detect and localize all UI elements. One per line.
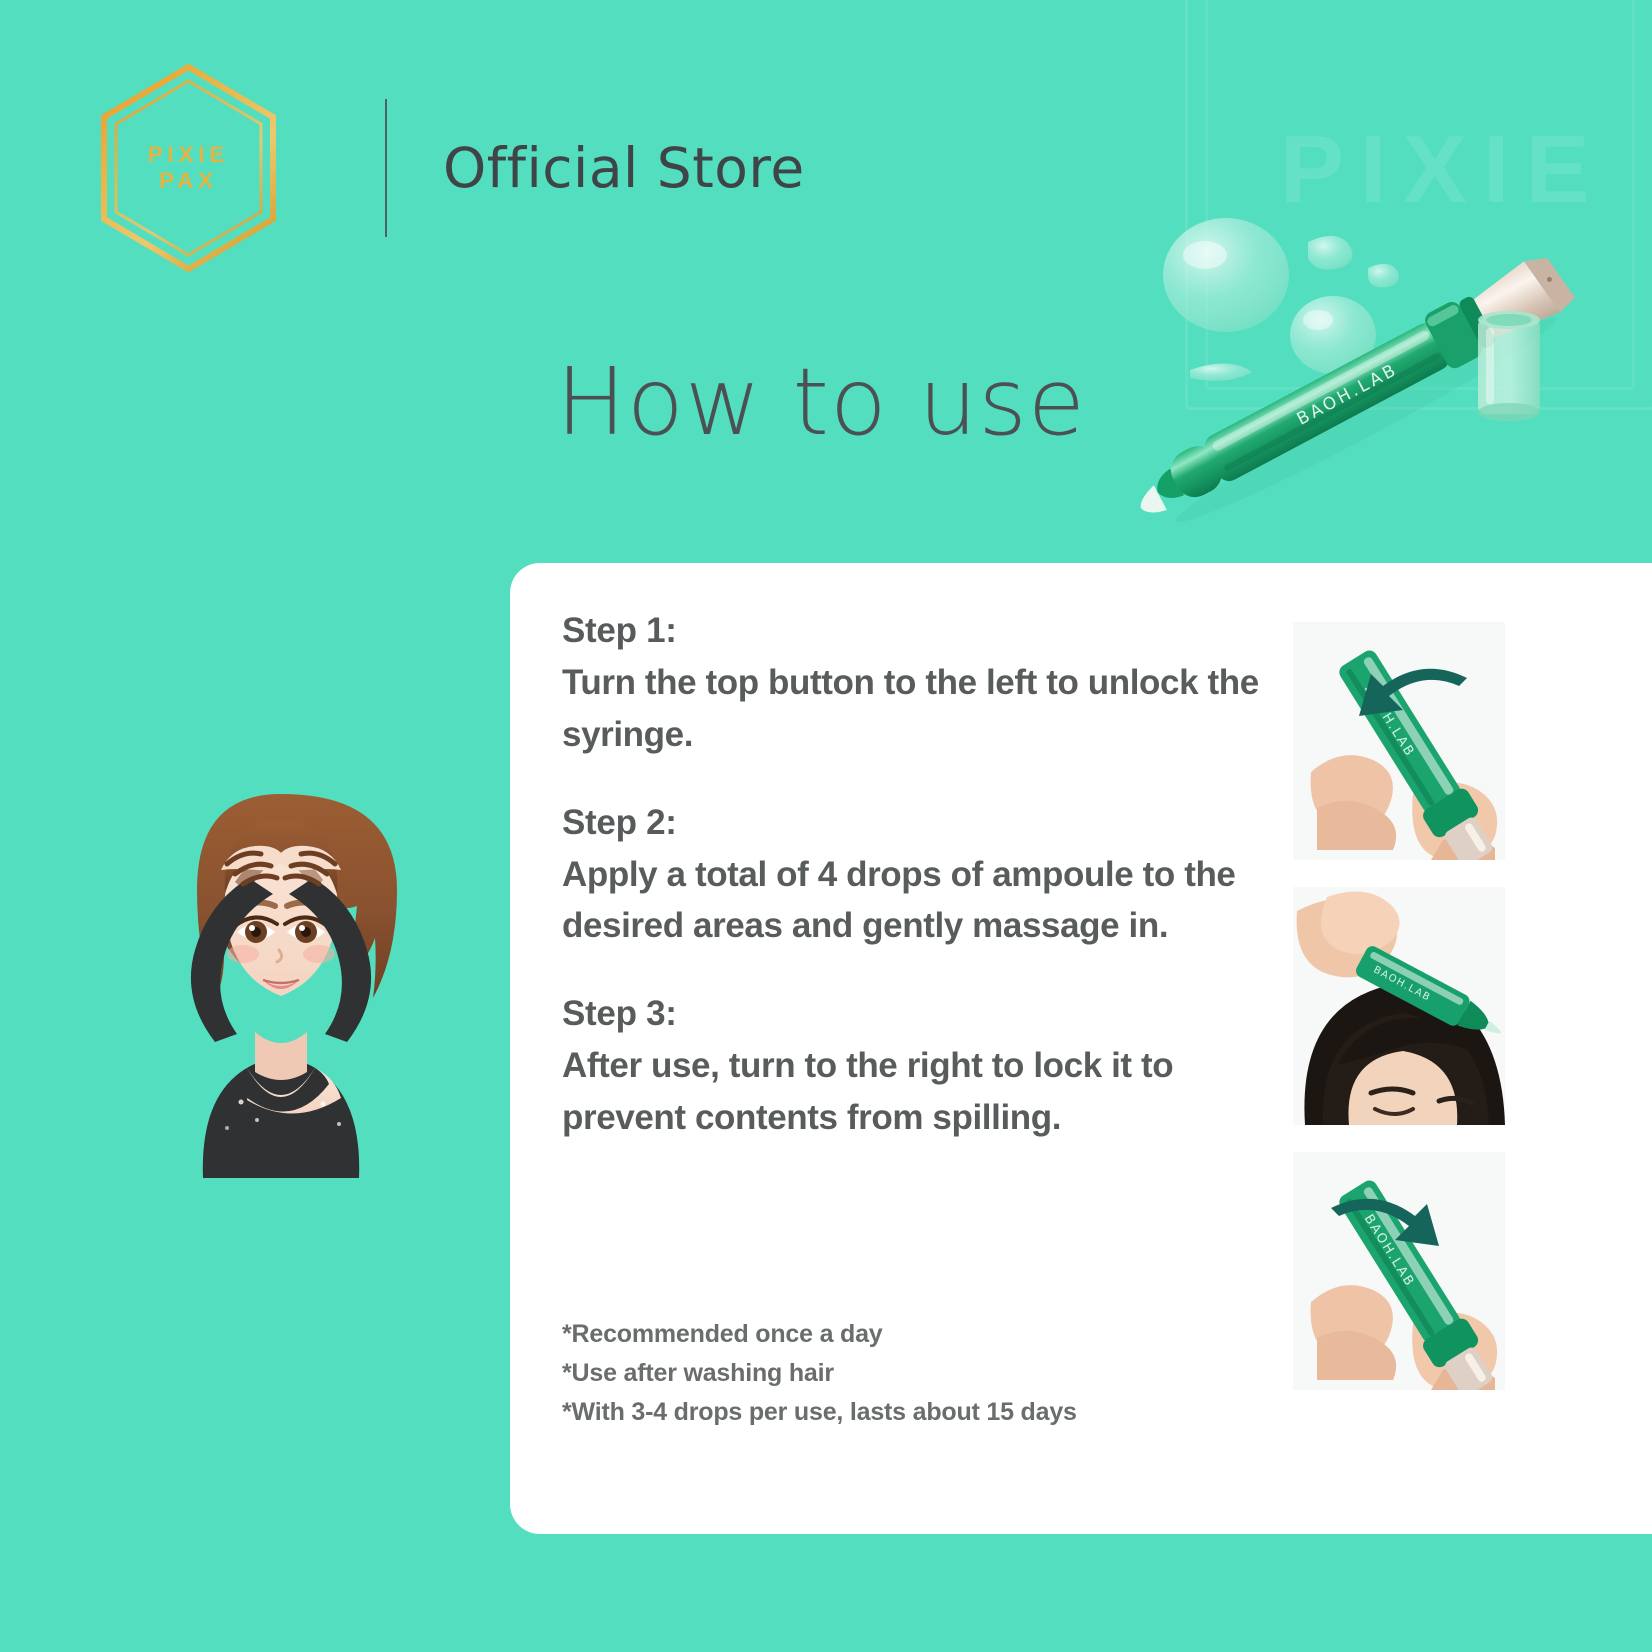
note-line: *Use after washing hair [562, 1354, 1282, 1393]
logo-wordmark: PIXIE PAX [96, 62, 281, 274]
persona-illustration [95, 742, 467, 1178]
step-item: Step 1: Turn the top button to the left … [562, 611, 1262, 761]
step-2-photo: BAOH.LAB [1293, 887, 1505, 1125]
step-text: Turn the top button to the left to unloc… [562, 657, 1262, 761]
logo-line-1: PIXIE [148, 142, 229, 168]
woman-massaging-scalp-icon [95, 742, 467, 1178]
step-label: Step 2: [562, 803, 1262, 843]
notes-list: *Recommended once a day *Use after washi… [562, 1315, 1282, 1431]
pixie-pax-logo[interactable]: PIXIE PAX [96, 62, 281, 274]
step-photos: BAOH.LAB [1293, 622, 1505, 1417]
steps-list: Step 1: Turn the top button to the left … [562, 611, 1262, 1186]
header: PIXIE PAX Official Store [96, 62, 805, 274]
note-line: *With 3-4 drops per use, lasts about 15 … [562, 1393, 1282, 1432]
logo-line-2: PAX [159, 168, 218, 194]
step-3-photo: BAOH.LAB [1293, 1152, 1505, 1390]
hand-turning-pen-left-photo-icon: BAOH.LAB [1293, 622, 1505, 860]
step-label: Step 1: [562, 611, 1262, 651]
product-applicator-pen-icon: BAOH.LAB [1050, 200, 1652, 530]
page-title: How to use [556, 348, 1086, 456]
step-item: Step 3: After use, turn to the right to … [562, 994, 1262, 1144]
official-store-label: Official Store [443, 136, 805, 200]
hero-product-image: BAOH.LAB [1050, 200, 1652, 530]
step-text: Apply a total of 4 drops of ampoule to t… [562, 849, 1262, 953]
header-divider [385, 99, 387, 237]
hand-turning-pen-right-photo-icon: BAOH.LAB [1293, 1152, 1505, 1390]
step-text: After use, turn to the right to lock it … [562, 1040, 1262, 1144]
how-to-use-card: Step 1: Turn the top button to the left … [510, 563, 1652, 1534]
step-1-photo: BAOH.LAB [1293, 622, 1505, 860]
step-label: Step 3: [562, 994, 1262, 1034]
note-line: *Recommended once a day [562, 1315, 1282, 1354]
applying-ampoule-to-scalp-photo-icon: BAOH.LAB [1293, 887, 1505, 1125]
step-item: Step 2: Apply a total of 4 drops of ampo… [562, 803, 1262, 953]
